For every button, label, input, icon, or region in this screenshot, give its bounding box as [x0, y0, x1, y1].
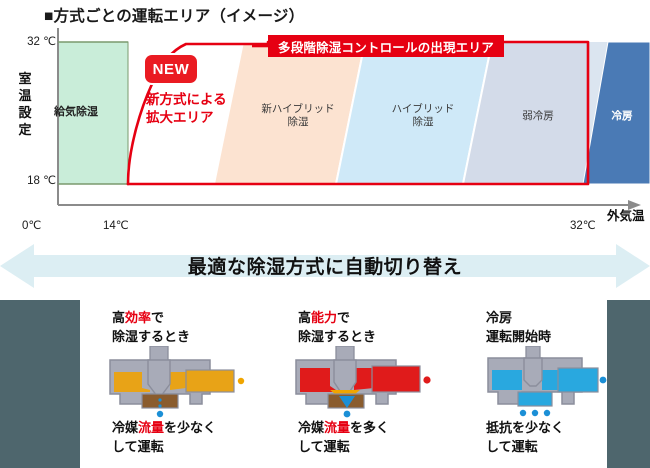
valve-fluid-right [542, 370, 560, 390]
panel-caption: 冷媒流量を少なく して運転 [112, 418, 216, 456]
new-badge: NEW [145, 55, 197, 83]
panel-caption-line2: して運転 [298, 439, 350, 454]
valve-fluid-right [354, 368, 374, 390]
flow-marker-outlet [238, 378, 244, 384]
valve-panel-efficiency: 高効率で 除湿するとき 冷媒流量を少なく して運転 [80, 300, 266, 468]
panel-caption-pre: 抵抗を少なく [486, 420, 564, 435]
valve-fluid-right [170, 372, 186, 390]
valve-outlet-pipe [372, 366, 420, 392]
valve-diagram-wide [284, 346, 436, 418]
panel-caption-pre: 冷媒 [298, 420, 324, 435]
panel-caption-line2: して運転 [486, 439, 538, 454]
panel-caption-highlight: 流量 [138, 420, 164, 435]
valve-diagram-narrow [98, 346, 250, 418]
x-axis-tick-32: 32℃ [570, 218, 596, 232]
panel-title-pre: 冷房 [486, 310, 512, 325]
multi-stage-control-banner: 多段階除湿コントロールの出現エリア [268, 35, 504, 57]
valve-bottom-port [518, 392, 552, 406]
flow-dot-b [158, 404, 161, 407]
panel-caption-post: を多く [350, 420, 389, 435]
x-axis-tick-14: 14℃ [103, 218, 129, 232]
flow-marker-bottom-b [532, 410, 538, 416]
auto-switch-label: 最適な除湿方式に自動切り替え [0, 252, 650, 279]
flow-marker-bottom-c [544, 410, 550, 416]
panel-caption-post: を少なく [164, 420, 216, 435]
valve-panel-capacity: 高能力で 除湿するとき 冷媒流量を多く して運転 [266, 300, 452, 468]
panel-title-line2: 運転開始時 [486, 329, 551, 344]
x-axis-tick-0: 0℃ [22, 218, 41, 232]
panel-caption-pre: 冷媒 [112, 420, 138, 435]
flow-marker-outlet [423, 376, 430, 383]
y-axis-title: 室温設定 [14, 70, 36, 138]
flow-marker-outlet [600, 377, 607, 384]
region-label-cooling: 冷房 [597, 110, 647, 123]
panel-title: 高効率で 除湿するとき [112, 308, 190, 346]
y-axis-tick-32: 32 ℃ [4, 34, 56, 48]
panel-title-post: で [151, 310, 164, 325]
y-axis-tick-18: 18 ℃ [4, 173, 56, 187]
x-axis-title: 外気温 [607, 205, 645, 224]
region-label-hybrid-dehumidify: ハイブリッド 除湿 [378, 103, 468, 129]
new-area-callout: 新方式による 拡大エリア [146, 91, 266, 127]
valve-outlet-pipe [558, 368, 598, 392]
panel-title: 冷房 運転開始時 [486, 308, 551, 346]
valve-diagram-open [478, 346, 608, 418]
panel-title-post: で [337, 310, 350, 325]
panel-title-pre: 高 [298, 310, 311, 325]
valve-panel-cooling-start: 冷房 運転開始時 抵抗を少なく して運転 [452, 300, 607, 468]
panel-title-line2: 除湿するとき [298, 329, 376, 344]
panel-title-highlight: 効率 [125, 310, 151, 325]
valve-outlet-pipe [186, 370, 234, 392]
region-label-new-hybrid-dehumidify: 新ハイブリッド 除湿 [253, 103, 343, 129]
region-label-supply-dehumidify: 給気除湿 [36, 106, 116, 119]
panel-caption-highlight: 流量 [324, 420, 350, 435]
panel-caption-line2: して運転 [112, 439, 164, 454]
panel-title-pre: 高 [112, 310, 125, 325]
diagram-root: ■方式ごとの運転エリア（イメージ） 32 ℃ 18 ℃ 室温設定 0℃ 14℃ … [0, 0, 650, 468]
valve-needle [524, 358, 542, 386]
region-label-weak-cooling: 弱冷房 [505, 110, 571, 123]
panel-title-highlight: 能力 [311, 310, 337, 325]
flow-marker-bottom [157, 411, 163, 417]
panel-title: 高能力で 除湿するとき [298, 308, 376, 346]
flow-marker-bottom [344, 411, 351, 418]
flow-marker-bottom-a [520, 410, 526, 416]
flow-dot-a [158, 398, 161, 401]
panel-title-line2: 除湿するとき [112, 329, 190, 344]
panel-caption: 抵抗を少なく して運転 [486, 418, 564, 456]
panel-caption: 冷媒流量を多く して運転 [298, 418, 389, 456]
valve-fluid-left [492, 370, 522, 390]
